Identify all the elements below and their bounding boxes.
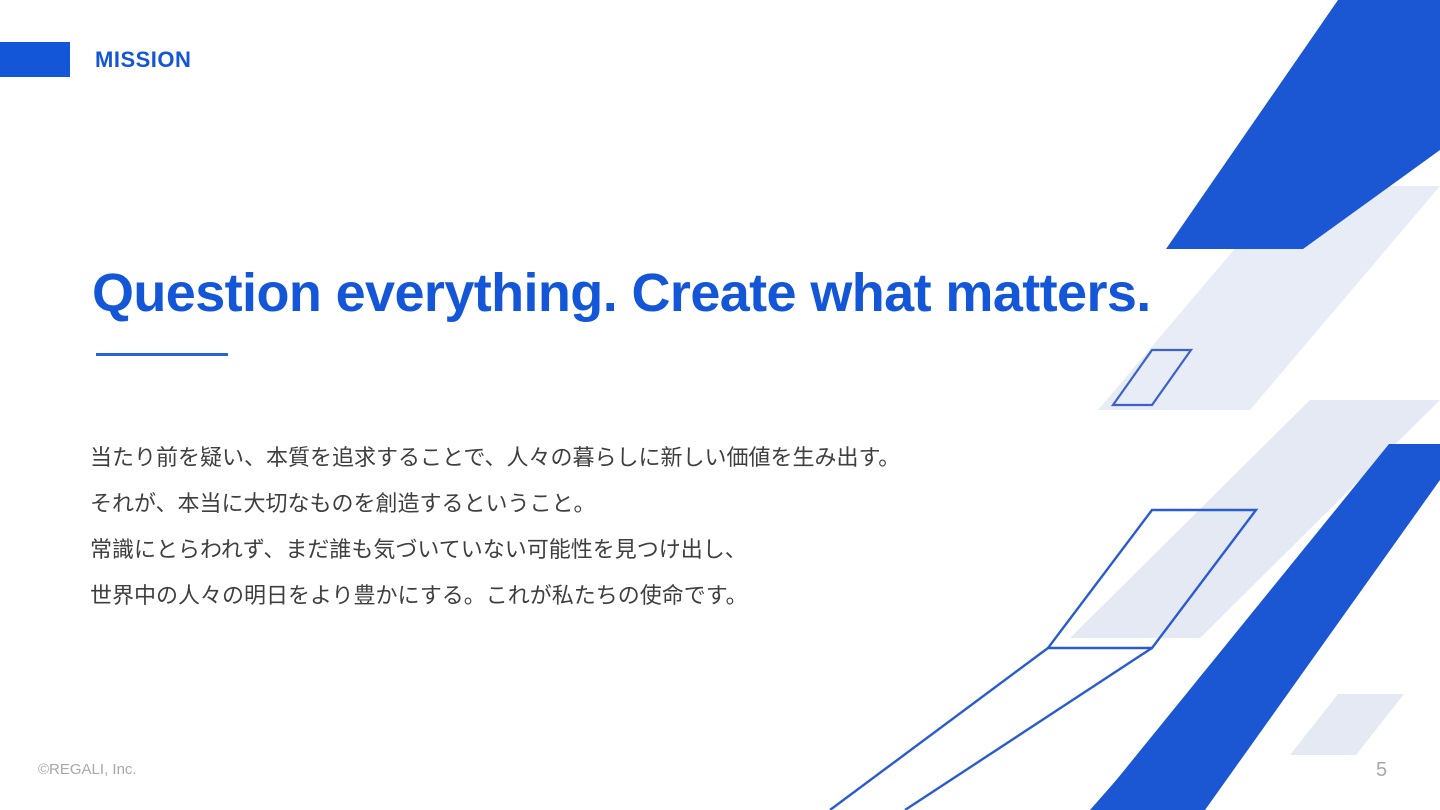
blue-diagonal-band-top	[1166, 0, 1440, 249]
slide-canvas: MISSION Question everything. Create what…	[0, 0, 1440, 810]
gray-diagonal-band-mid	[1070, 400, 1440, 638]
body-line: それが、本当に大切なものを創造するということ。	[90, 482, 1040, 528]
page-number: 5	[1376, 758, 1387, 782]
outlined-parallelogram-large	[1048, 510, 1256, 648]
outlined-parallelogram-small	[1113, 350, 1191, 405]
thin-diagonal-line-2	[830, 648, 1048, 810]
blue-diagonal-band-bottom	[1090, 444, 1440, 810]
title-divider	[96, 353, 228, 356]
body-line: 常識にとらわれず、まだ誰も気づいていない可能性を見つけ出し、	[90, 528, 1040, 574]
body-copy: 当たり前を疑い、本質を追求することで、人々の暮らしに新しい価値を生み出す。 それ…	[90, 436, 1040, 620]
body-line: 世界中の人々の明日をより豊かにする。これが私たちの使命です。	[90, 574, 1040, 620]
copyright-text: ©REGALI, Inc.	[38, 760, 137, 780]
thin-diagonal-line-1	[905, 648, 1152, 810]
gray-parallelogram-bottom	[1290, 694, 1404, 755]
accent-block	[0, 42, 70, 77]
decorative-graphics	[0, 0, 1440, 810]
blue-diagonal-band-top-b	[1166, 0, 1440, 249]
blue-diagonal-band-bottom-b	[1092, 444, 1440, 810]
page-title: Question everything. Create what matters…	[92, 258, 1151, 328]
eyebrow-label: MISSION	[95, 45, 191, 75]
body-line: 当たり前を疑い、本質を追求することで、人々の暮らしに新しい価値を生み出す。	[90, 436, 1040, 482]
